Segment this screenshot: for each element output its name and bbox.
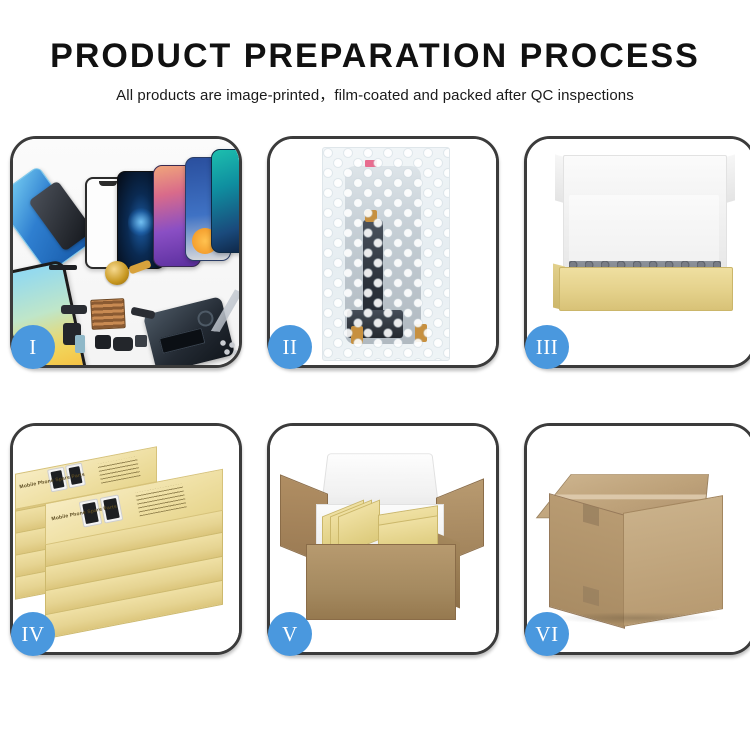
bubble-bag bbox=[322, 147, 450, 361]
copper-shield-icon bbox=[90, 298, 126, 330]
step-badge-1: I bbox=[11, 325, 55, 369]
speaker-module-icon bbox=[113, 337, 133, 351]
notch-icon bbox=[99, 181, 117, 186]
step-badge-3: III bbox=[525, 325, 569, 369]
carton-right-face-icon bbox=[623, 495, 723, 627]
small-chip-icon bbox=[135, 335, 147, 347]
teal-screen-icon bbox=[211, 149, 239, 253]
process-steps-grid: I II bbox=[10, 136, 740, 655]
screws-icon bbox=[219, 339, 239, 357]
foam-sheet-icon bbox=[569, 195, 719, 271]
step-panel-5[interactable]: V bbox=[267, 423, 499, 655]
vibrator-motor-icon bbox=[95, 335, 111, 349]
step-badge-5: V bbox=[268, 612, 312, 656]
carton-front-icon bbox=[306, 544, 456, 620]
step-panel-1[interactable]: I bbox=[10, 136, 242, 368]
page-subtitle: All products are image-printed，film-coat… bbox=[0, 84, 750, 105]
bubble-texture bbox=[323, 148, 449, 360]
step-panel-2[interactable]: II bbox=[267, 136, 499, 368]
connector-part-icon bbox=[61, 305, 87, 314]
yellow-tray-base-icon bbox=[559, 267, 733, 311]
ribbon-cable-icon bbox=[130, 307, 155, 320]
speaker-coil-icon bbox=[105, 261, 129, 285]
product-preparation-process-page: PRODUCT PREPARATION PROCESS All products… bbox=[0, 0, 750, 750]
step-panel-4[interactable]: Mobile Phone Spare Parts Mobile Phone Sp… bbox=[10, 423, 242, 655]
sim-tray-icon bbox=[75, 335, 85, 353]
step-panel-6[interactable]: VI bbox=[524, 423, 750, 655]
page-header: PRODUCT PREPARATION PROCESS All products… bbox=[0, 0, 750, 105]
step-badge-4: IV bbox=[11, 612, 55, 656]
step-badge-6: VI bbox=[525, 612, 569, 656]
step-badge-2: II bbox=[268, 325, 312, 369]
step-panel-3[interactable]: III bbox=[524, 136, 750, 368]
earpiece-mesh-icon bbox=[49, 265, 77, 270]
page-title: PRODUCT PREPARATION PROCESS bbox=[0, 36, 750, 76]
carton-shadow bbox=[551, 612, 721, 624]
